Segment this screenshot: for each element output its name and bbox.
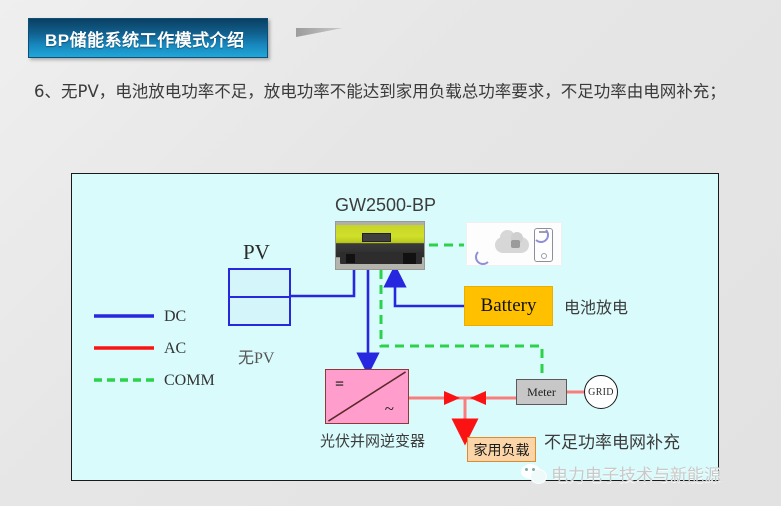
inverter-dc-symbol: =: [335, 376, 344, 394]
slide-root: BP储能系统工作模式介绍 6、无PV，电池放电功率不足，放电功率不能达到家用负载…: [0, 0, 781, 506]
page-title: BP储能系统工作模式介绍: [45, 26, 245, 51]
grid-tie-inverter-block: = ~: [325, 369, 409, 424]
battery-label: Battery: [481, 295, 537, 317]
body-paragraph: 6、无PV，电池放电功率不足，放电功率不能达到家用负载总功率要求，不足功率由电网…: [34, 76, 750, 107]
grid-node: GRID: [584, 375, 618, 409]
grid-supplement-note: 不足功率电网补充: [544, 428, 680, 453]
device-connectors: [340, 252, 422, 264]
footer-watermark-text: 电力电子技术与新能源: [551, 461, 721, 486]
wire-pv-to-inverter: [291, 270, 354, 296]
legend-comm-label: COMM: [164, 372, 215, 390]
household-load-label: 家用负载: [474, 440, 530, 460]
legend-dc-label: DC: [164, 308, 186, 326]
battery-discharge-note: 电池放电: [564, 294, 628, 318]
ac-arrow-right: [444, 391, 460, 405]
inverter-ac-symbol: ~: [385, 399, 394, 419]
device-title-label: GW2500-BP: [335, 195, 436, 216]
pv-label: PV: [243, 240, 270, 265]
legend-ac-label: AC: [164, 340, 186, 358]
ac-arrow-left: [470, 391, 486, 405]
battery-block: Battery: [464, 286, 553, 326]
grid-label: GRID: [588, 387, 614, 398]
gw2500-bp-device-image: [335, 221, 425, 270]
cloud-monitoring-image: [466, 222, 562, 266]
wire-battery-to-inverter: [395, 276, 464, 306]
grid-tie-inverter-label: 光伏并网逆变器: [320, 430, 425, 451]
cloud-center-dot-icon: [511, 240, 520, 248]
wechat-icon: [521, 463, 543, 483]
title-tail-decoration: [296, 28, 342, 46]
title-banner: BP储能系统工作模式介绍: [28, 18, 268, 58]
pv-status-label: 无PV: [238, 344, 274, 368]
pv-panel-divider: [228, 296, 291, 298]
wifi-signal-icon-bottom: [475, 249, 491, 265]
meter-block: Meter: [516, 379, 567, 405]
household-load-block: 家用负载: [467, 437, 536, 462]
title-banner-wrap: BP储能系统工作模式介绍: [28, 18, 268, 56]
meter-label: Meter: [527, 385, 556, 400]
device-display-icon: [362, 233, 391, 242]
system-diagram: DC AC COMM PV 无PV GW2500-BP Battery 电池放电: [71, 173, 719, 481]
footer-watermark: 电力电子技术与新能源: [521, 462, 721, 484]
